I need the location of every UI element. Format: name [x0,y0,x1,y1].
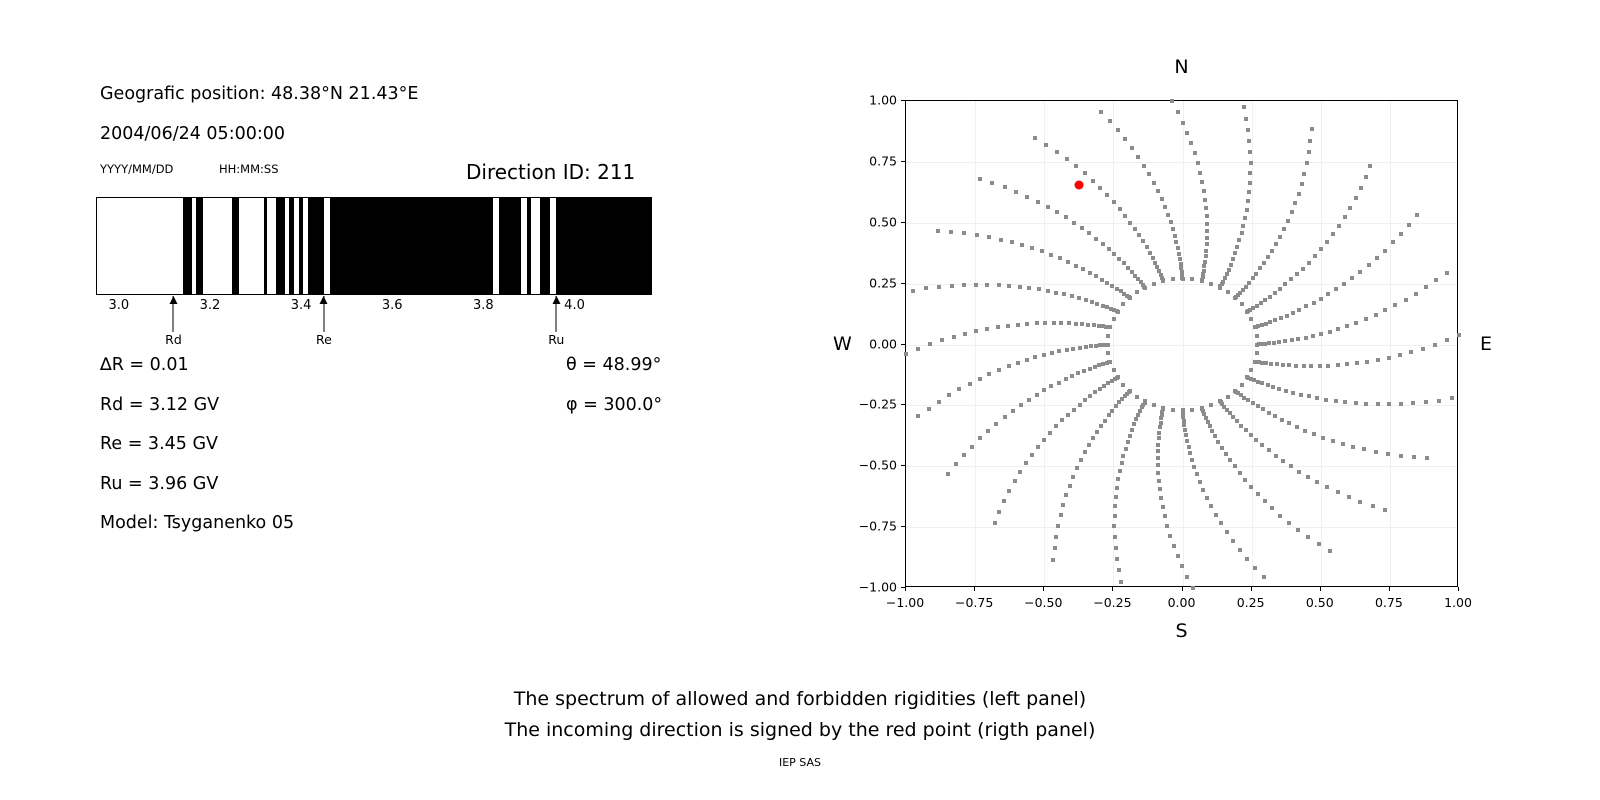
theta: θ = 48.99° [566,355,661,375]
direction-marker [1042,438,1046,442]
direction-marker [1185,439,1189,443]
direction-marker [1179,262,1183,266]
direction-marker [1260,443,1264,447]
direction-marker [1306,535,1310,539]
polar-x-tick-mark [1043,587,1044,591]
direction-marker [1072,408,1076,412]
re-value: Re = 3.45 GV [100,434,218,454]
direction-marker [1027,286,1031,290]
direction-marker [1095,430,1099,434]
direction-marker [1383,249,1387,253]
direction-marker [1072,221,1076,225]
direction-marker [1255,334,1259,338]
direction-marker [985,327,989,331]
direction-marker [1156,471,1160,475]
direction-marker [1174,240,1178,244]
direction-marker [1233,464,1237,468]
direction-marker [1064,215,1068,219]
direction-marker [1117,257,1121,261]
direction-marker [1097,324,1101,328]
direction-marker [1128,221,1132,225]
direction-marker [1289,464,1293,468]
direction-marker [1115,287,1119,291]
direction-marker [1306,475,1310,479]
direction-marker [1351,445,1355,449]
gridline-horizontal [906,405,1457,406]
direction-marker [1387,356,1391,360]
date-format-hint: YYYY/MM/DD [100,162,173,176]
direction-marker [1068,484,1072,488]
direction-marker [1280,418,1284,422]
direction-marker [1090,300,1094,304]
direction-marker [1254,438,1258,442]
forbidden-band [540,198,550,294]
direction-marker [1225,272,1229,276]
direction-marker [1179,266,1183,270]
direction-marker [1299,393,1303,397]
direction-marker [1325,485,1329,489]
direction-marker [1239,424,1243,428]
direction-marker [1074,164,1078,168]
direction-marker [1407,223,1411,227]
direction-marker [1051,558,1055,562]
direction-marker [1196,161,1200,165]
direction-marker [1434,278,1438,282]
direction-marker [1183,428,1187,432]
direction-marker [1093,365,1097,369]
direction-marker [1219,521,1223,525]
polar-y-tick-label: 0.00 [869,336,897,351]
direction-marker [1246,128,1250,132]
direction-marker [1348,206,1352,210]
direction-marker [1189,141,1193,145]
direction-marker [1112,317,1116,321]
direction-marker [1172,544,1176,548]
direction-marker [1310,127,1314,131]
direction-marker [1126,440,1130,444]
direction-marker [1374,313,1378,317]
direction-marker [1364,175,1368,179]
direction-marker [1214,513,1218,517]
direction-marker [954,462,958,466]
direction-marker [1011,409,1015,413]
direction-marker [1421,347,1425,351]
direction-marker [1087,443,1091,447]
direction-marker [1083,171,1087,175]
direction-marker [1193,151,1197,155]
polar-x-tick-mark [1251,587,1252,591]
direction-marker [1223,276,1227,280]
direction-marker [1163,205,1167,209]
direction-marker [1187,445,1191,449]
direction-marker [1124,447,1128,451]
direction-marker [1178,257,1182,261]
direction-marker [1176,554,1180,558]
direction-marker [1260,381,1264,385]
direction-marker [1171,277,1175,281]
polar-y-tick-label: −1.00 [859,580,897,595]
direction-marker [1354,321,1358,325]
direction-marker [1209,282,1213,286]
direction-marker [1297,308,1301,312]
direction-marker [1365,360,1369,364]
direction-marker [1371,504,1375,508]
direction-marker [1185,575,1189,579]
direction-marker [1387,402,1391,406]
direction-marker [1190,458,1194,462]
direction-marker [1182,423,1186,427]
direction-marker [1253,325,1257,329]
compass-south: S [1175,620,1187,642]
direction-marker [1307,261,1311,265]
direction-marker [1160,197,1164,201]
polar-plot-frame [905,100,1458,587]
direction-marker [1256,492,1260,496]
caption-line-1: The spectrum of allowed and forbidden ri… [0,688,1600,710]
direction-marker [1118,469,1122,473]
direction-marker [1302,172,1306,176]
direction-marker [1309,364,1313,368]
rigidity-axis: 3.03.23.43.63.84.0RdReRu [96,296,652,356]
rigidity-tick-label: 4.0 [564,298,585,313]
direction-marker [1376,402,1380,406]
forbidden-band [289,198,294,294]
polar-x-tick-label: −1.00 [886,595,924,610]
direction-marker [1243,216,1247,220]
direction-marker [1030,453,1034,457]
direction-marker [1245,557,1249,561]
rigidity-tick-label: 3.2 [200,298,221,313]
direction-marker [904,352,908,356]
direction-marker [1094,274,1098,278]
direction-marker [952,335,956,339]
direction-marker [1025,322,1029,326]
direction-marker [1112,368,1116,372]
direction-marker [1165,524,1169,528]
polar-x-tick-label: −0.50 [1024,595,1062,610]
direction-marker [1190,277,1194,281]
direction-marker [1247,281,1251,285]
direction-marker [940,338,944,342]
direction-marker [1240,231,1244,235]
direction-marker [1066,413,1070,417]
direction-marker [1445,338,1449,342]
direction-marker [1267,411,1271,415]
direction-marker [1412,455,1416,459]
direction-marker [1240,383,1244,387]
direction-marker [937,400,941,404]
direction-marker [1101,324,1105,328]
polar-x-tick-label: 0.75 [1375,595,1403,610]
direction-marker [1106,343,1110,347]
polar-x-tick-mark [1320,587,1321,591]
direction-marker [1202,189,1206,193]
direction-marker [1070,294,1074,298]
direction-marker [1409,350,1413,354]
direction-marker [1240,302,1244,306]
direction-marker [1101,304,1105,308]
direction-marker [1158,487,1162,491]
direction-marker [1035,393,1039,397]
direction-marker [1290,338,1294,342]
direction-marker [1040,249,1044,253]
direction-marker [1228,458,1232,462]
direction-marker [1433,343,1437,347]
direction-marker [1056,524,1060,528]
direction-marker [1123,214,1127,218]
direction-marker [1249,433,1253,437]
gridline-horizontal [906,162,1457,163]
polar-y-tick-mark [901,222,905,223]
direction-marker [1036,200,1040,204]
forbidden-band [527,198,531,294]
direction-marker [1007,489,1011,493]
forbidden-band [232,198,239,294]
direction-marker [1274,454,1278,458]
direction-marker [1100,278,1104,282]
direction-marker [1116,375,1120,379]
direction-marker [1181,277,1185,281]
direction-marker [1113,535,1117,539]
direction-marker [1334,399,1338,403]
direction-marker [1238,471,1242,475]
direction-marker [1143,399,1147,403]
direction-marker [1290,210,1294,214]
direction-marker [1216,440,1220,444]
forbidden-band [264,198,267,294]
direction-marker [1088,367,1092,371]
direction-marker [1293,201,1297,205]
direction-marker [1303,429,1307,433]
direction-marker [1209,403,1213,407]
direction-marker [1227,268,1231,272]
ru-marker-label: Ru [548,332,564,347]
direction-marker [949,230,953,234]
direction-marker [1042,353,1046,357]
direction-marker [1283,282,1287,286]
direction-marker [1198,480,1202,484]
direction-marker [1003,415,1007,419]
direction-marker [1027,398,1031,402]
direction-marker [1007,284,1011,288]
direction-marker [1086,323,1090,327]
direction-marker [1082,369,1086,373]
direction-marker [1192,465,1196,469]
direction-marker [1248,150,1252,154]
direction-marker [1059,513,1063,517]
direction-marker [970,445,974,449]
direction-marker [1319,297,1323,301]
direction-marker [1312,432,1316,436]
direction-marker [1089,344,1093,348]
direction-marker [1399,402,1403,406]
direction-marker [1411,401,1415,405]
polar-y-tick-mark [901,526,905,527]
direction-marker [1286,219,1290,223]
direction-marker [1099,110,1103,114]
direction-marker [994,422,998,426]
direction-marker [1114,495,1118,499]
direction-marker [1296,337,1300,341]
direction-marker [1231,539,1235,543]
direction-marker [1046,205,1050,209]
direction-marker [947,393,951,397]
direction-marker [1087,231,1091,235]
direction-marker [1128,434,1132,438]
direction-marker [937,285,941,289]
direction-marker [1185,131,1189,135]
direction-marker [1246,398,1250,402]
forbidden-band [276,198,285,294]
re-arrow-icon [323,296,324,332]
direction-marker [1171,408,1175,412]
gridline-vertical [1390,101,1391,586]
direction-marker [1242,105,1246,109]
direction-marker [1173,234,1177,238]
direction-marker [1202,264,1206,268]
polar-x-tick-mark [974,587,975,591]
direction-marker [1062,292,1066,296]
rigidity-tick-label: 3.0 [108,298,129,313]
direction-marker [1156,463,1160,467]
direction-marker [1270,506,1274,510]
direction-marker [1255,343,1259,347]
direction-marker [1156,449,1160,453]
direction-marker [1457,333,1461,337]
direction-marker [1287,421,1291,425]
direction-marker [1084,345,1088,349]
direction-marker [1142,164,1146,168]
direction-marker [1326,292,1330,296]
direction-marker [1220,446,1224,450]
direction-marker [1297,470,1301,474]
direction-marker [1159,496,1163,500]
polar-x-tick-label: −0.25 [1093,595,1131,610]
direction-marker [1121,454,1125,458]
direction-marker [1115,557,1119,561]
direction-marker [974,283,978,287]
direction-marker [1169,220,1173,224]
direction-marker [1112,252,1116,256]
direction-marker [1130,270,1134,274]
direction-marker [1301,267,1305,271]
direction-marker [1190,408,1194,412]
direction-marker [1071,475,1075,479]
direction-marker [996,325,1000,329]
direction-marker [916,347,920,351]
direction-marker [968,382,972,386]
direction-marker [1157,436,1161,440]
polar-x-tick-mark [1182,587,1183,591]
direction-marker [1177,252,1181,256]
direction-marker [962,231,966,235]
re-marker-label: Re [316,332,332,347]
direction-marker [1255,351,1259,355]
direction-marker [1263,499,1267,503]
direction-marker [1078,346,1082,350]
direction-marker [1221,280,1225,284]
direction-marker [1204,254,1208,258]
datetime-value: 2004/06/24 05:00:00 [100,124,285,144]
direction-marker [1057,349,1061,353]
rigidity-tick-label: 3.6 [382,298,403,313]
direction-marker [1080,322,1084,326]
polar-y-tick-label: 0.75 [869,153,897,168]
direction-marker [1054,291,1058,295]
direction-marker [1195,472,1199,476]
direction-marker [1326,364,1330,368]
direction-marker [1098,387,1102,391]
polar-y-tick-label: 0.50 [869,214,897,229]
direction-marker [1245,208,1249,212]
direction-marker [1345,362,1349,366]
direction-marker [1128,296,1132,300]
direction-marker [1315,480,1319,484]
direction-marker [1321,436,1325,440]
direction-marker [1205,496,1209,500]
direction-marker [1319,247,1323,251]
compass-east: E [1480,333,1492,355]
direction-marker [990,181,994,185]
direction-marker [1270,249,1274,253]
direction-marker [1119,580,1123,584]
direction-marker [1312,301,1316,305]
direction-marker [1084,298,1088,302]
direction-marker [1083,450,1087,454]
direction-marker [1248,171,1252,175]
direction-marker [1362,447,1366,451]
direction-marker [1133,274,1137,278]
direction-marker [1180,564,1184,568]
phi: φ = 300.0° [566,395,662,415]
direction-marker [1200,406,1204,410]
direction-marker [1024,461,1028,465]
direction-marker [1065,348,1069,352]
direction-marker [1383,508,1387,512]
rd-value: Rd = 3.12 GV [100,395,219,415]
direction-marker [1354,196,1358,200]
direction-marker [1176,246,1180,250]
direction-marker [1337,224,1341,228]
time-format-hint: HH:MM:SS [219,162,279,176]
direction-marker [1018,470,1022,474]
direction-marker [1134,417,1138,421]
direction-marker [1393,303,1397,307]
direction-marker [1088,271,1092,275]
direction-marker [1311,334,1315,338]
direction-marker [1108,119,1112,123]
polar-y-tick-mark [901,344,905,345]
direction-marker [1272,341,1276,345]
direction-marker [1116,477,1120,481]
direction-marker [1247,190,1251,194]
direction-marker [1218,286,1222,290]
gridline-vertical [1321,101,1322,586]
direction-marker [1264,322,1268,326]
direction-marker [1156,443,1160,447]
direction-marker [1347,495,1351,499]
direction-marker [1334,287,1338,291]
direction-marker [1237,238,1241,242]
direction-marker [1030,246,1034,250]
direction-marker [1229,263,1233,267]
direction-marker [1025,195,1029,199]
compass-west: W [833,333,852,355]
direction-marker [1049,253,1053,257]
direction-marker [993,521,997,525]
direction-marker [1268,295,1272,299]
rd-arrow-icon [173,296,174,332]
